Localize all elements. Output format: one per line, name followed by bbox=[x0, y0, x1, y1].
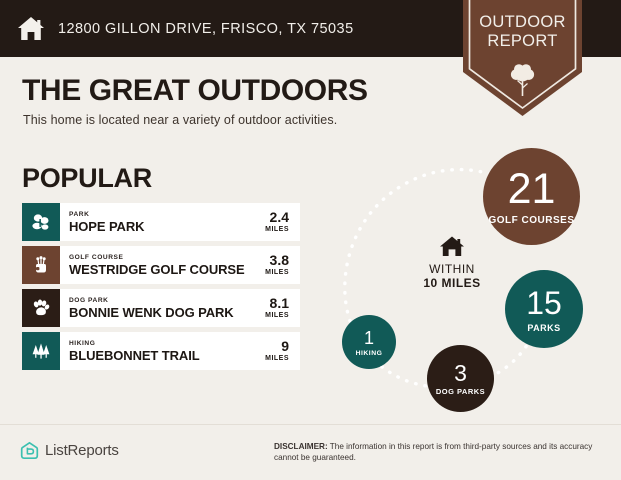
list-item-category: HIKING bbox=[69, 339, 265, 348]
park-icon bbox=[22, 203, 60, 241]
bubble-value: 3 bbox=[454, 362, 467, 385]
popular-poi-list: PARK HOPE PARK 2.4 MILES GOLF C bbox=[22, 203, 300, 375]
page-title: THE GREAT OUTDOORS bbox=[22, 74, 368, 108]
bubble-value: 21 bbox=[508, 168, 556, 211]
list-item-name: HOPE PARK bbox=[69, 219, 265, 234]
footer-divider bbox=[0, 424, 621, 425]
list-item-name: BONNIE WENK DOG PARK bbox=[69, 305, 265, 320]
badge-line-1: OUTDOOR bbox=[463, 13, 582, 32]
badge-label: OUTDOOR REPORT bbox=[463, 13, 582, 51]
bubble-hiking[interactable]: 1 HIKING bbox=[342, 315, 396, 369]
distance-value: 8.1 bbox=[265, 296, 289, 311]
list-item-category: DOG PARK bbox=[69, 296, 265, 305]
within-10-miles-bubble-chart: 21 GOLF COURSES 15 PARKS 3 DOG PARKS 1 H… bbox=[318, 135, 603, 425]
list-item-name: WESTRIDGE GOLF COURSE bbox=[69, 262, 265, 277]
list-item[interactable]: PARK HOPE PARK 2.4 MILES bbox=[22, 203, 300, 241]
bubble-parks[interactable]: 15 PARKS bbox=[505, 270, 583, 348]
list-item-category: PARK bbox=[69, 210, 265, 219]
list-item-distance: 3.8 MILES bbox=[265, 253, 300, 277]
bubble-golf-courses[interactable]: 21 GOLF COURSES bbox=[483, 148, 580, 245]
popular-section-title: POPULAR bbox=[22, 163, 152, 194]
disclaimer-label: DISCLAIMER: bbox=[274, 442, 328, 451]
distance-value: 9 bbox=[265, 339, 289, 354]
golf-bag-icon bbox=[22, 246, 60, 284]
distance-unit: MILES bbox=[265, 268, 289, 277]
list-item[interactable]: DOG PARK BONNIE WENK DOG PARK 8.1 MILES bbox=[22, 289, 300, 327]
list-item-text: HIKING BLUEBONNET TRAIL bbox=[60, 339, 265, 363]
distance-unit: MILES bbox=[265, 354, 289, 363]
list-item-text: PARK HOPE PARK bbox=[60, 210, 265, 234]
list-item-text: DOG PARK BONNIE WENK DOG PARK bbox=[60, 296, 265, 320]
list-item-distance: 9 MILES bbox=[265, 339, 300, 363]
listreports-logo-text: ListReports bbox=[45, 442, 119, 459]
page-subtitle: This home is located near a variety of o… bbox=[23, 113, 337, 127]
chart-center-label: WITHIN 10 MILES bbox=[402, 235, 502, 290]
bubble-value: 1 bbox=[364, 329, 374, 347]
property-address: 12800 GILLON DRIVE, FRISCO, TX 75035 bbox=[58, 21, 354, 37]
home-icon bbox=[402, 235, 502, 258]
listreports-house-logo-icon bbox=[20, 441, 39, 460]
outdoor-report-badge: OUTDOOR REPORT bbox=[463, 0, 582, 116]
list-item[interactable]: HIKING BLUEBONNET TRAIL 9 MILES bbox=[22, 332, 300, 370]
bubble-label: DOG PARKS bbox=[436, 388, 485, 397]
distance-value: 3.8 bbox=[265, 253, 289, 268]
bubble-label: PARKS bbox=[527, 323, 560, 333]
disclaimer: DISCLAIMER: The information in this repo… bbox=[274, 441, 600, 463]
badge-line-2: REPORT bbox=[463, 32, 582, 51]
bubble-dog-parks[interactable]: 3 DOG PARKS bbox=[427, 345, 494, 412]
paw-icon bbox=[22, 289, 60, 327]
home-icon bbox=[16, 15, 46, 43]
bubble-label: HIKING bbox=[356, 350, 383, 357]
list-item-name: BLUEBONNET TRAIL bbox=[69, 348, 265, 363]
outdoor-report-page: 12800 GILLON DRIVE, FRISCO, TX 75035 OUT… bbox=[0, 0, 621, 480]
center-line-1: WITHIN bbox=[402, 262, 502, 276]
list-item-distance: 2.4 MILES bbox=[265, 210, 300, 234]
bubble-label: GOLF COURSES bbox=[488, 215, 574, 227]
distance-value: 2.4 bbox=[265, 210, 289, 225]
list-item-text: GOLF COURSE WESTRIDGE GOLF COURSE bbox=[60, 253, 265, 277]
center-line-2: 10 MILES bbox=[402, 276, 502, 290]
listreports-logo[interactable]: ListReports bbox=[20, 441, 119, 460]
list-item-distance: 8.1 MILES bbox=[265, 296, 300, 320]
distance-unit: MILES bbox=[265, 311, 289, 320]
pine-trees-icon bbox=[22, 332, 60, 370]
list-item-category: GOLF COURSE bbox=[69, 253, 265, 262]
list-item[interactable]: GOLF COURSE WESTRIDGE GOLF COURSE 3.8 MI… bbox=[22, 246, 300, 284]
bubble-value: 15 bbox=[526, 287, 562, 319]
distance-unit: MILES bbox=[265, 225, 289, 234]
